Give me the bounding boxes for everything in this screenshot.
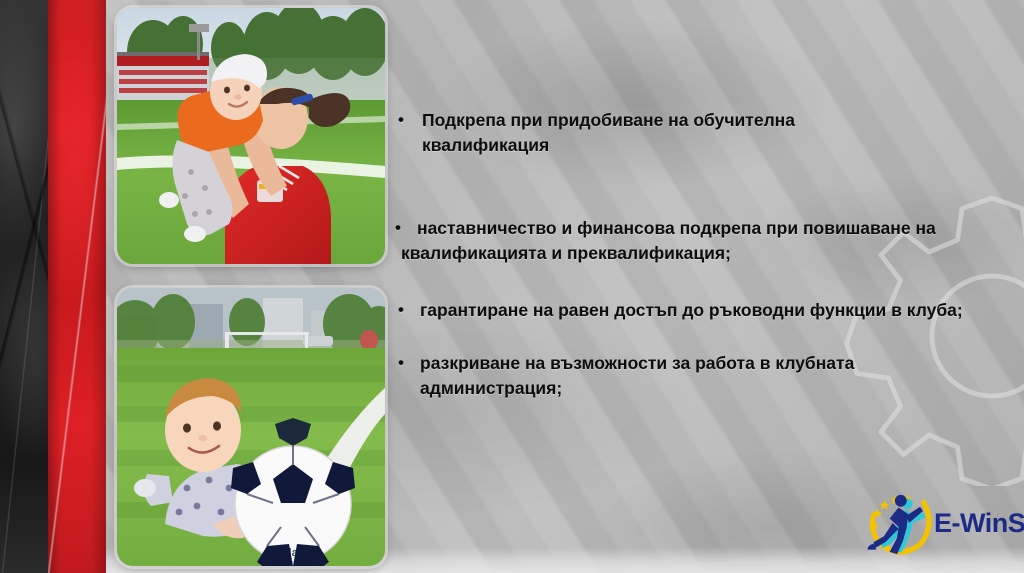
slide-canvas: adidas • Подкрепа при придобиване на обу… (0, 0, 1024, 573)
list-item: • Подкрепа при придобиване на обучителна… (398, 108, 998, 158)
bullet-text: гарантиране на равен достъп до ръководни… (420, 298, 980, 323)
left-dark-band (0, 0, 48, 573)
photo-mother-lifting-baby (117, 8, 385, 264)
svg-text:adidas: adidas (269, 547, 304, 559)
list-item: • гарантиране на равен достъп до ръковод… (398, 298, 998, 323)
left-red-stripe (48, 0, 106, 573)
ewins-logo: E-WinS (866, 484, 1018, 562)
bullet-text: разкриване на възможности за работа в кл… (420, 351, 940, 401)
photo-toddler-with-ball: adidas (117, 288, 385, 566)
list-item: • наставничество и финансова подкрепа пр… (395, 216, 998, 266)
bullet-marker-icon: • (398, 108, 422, 158)
running-figure-icon (866, 486, 940, 560)
bullet-marker-icon: • (398, 351, 420, 401)
bullet-text: наставничество и финансова подкрепа при … (401, 216, 998, 266)
bullet-marker-icon: • (398, 298, 420, 323)
bullet-text: Подкрепа при придобиване на обучителна к… (422, 108, 872, 158)
list-item: • разкриване на възможности за работа в … (398, 351, 998, 401)
ewins-logo-text: E-WinS (934, 508, 1024, 539)
bullet-list: • Подкрепа при придобиване на обучителна… (398, 108, 998, 401)
